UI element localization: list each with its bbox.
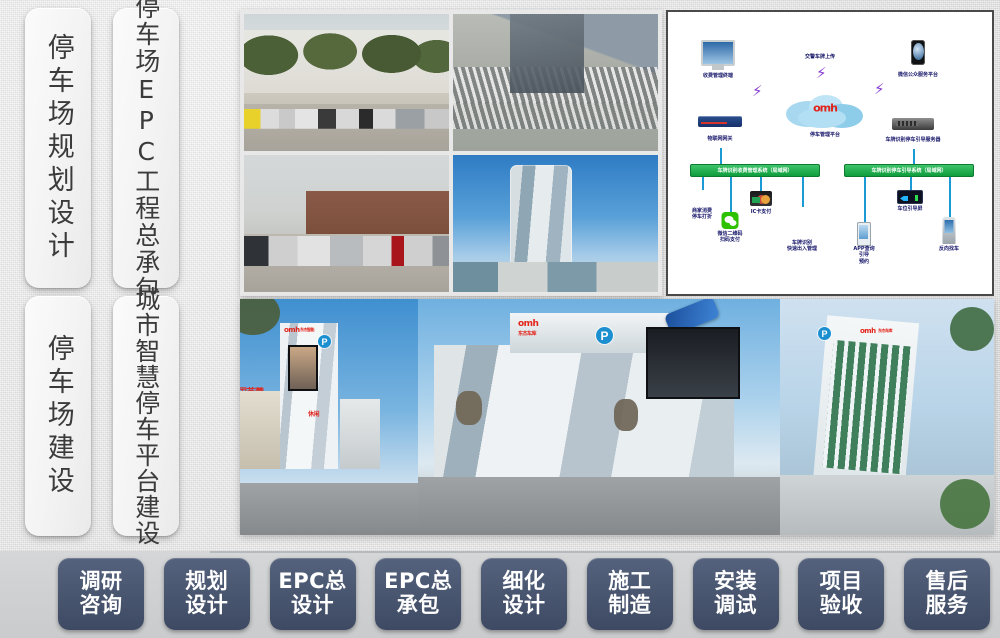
barrier-gate-icon (789, 207, 815, 237)
diagram-wire (910, 177, 912, 190)
process-step-after-sales[interactable]: 售后 服务 (904, 558, 990, 630)
diagram-wire (760, 177, 762, 191)
app-phone-icon (857, 222, 871, 246)
service-card-construction[interactable]: 停车场建设 (25, 296, 91, 536)
subsystem-bar-lpr-toll: 车牌识别收费管理系统（局域网） (690, 164, 820, 177)
process-step-epc-contract[interactable]: EPC总 承包 (375, 558, 461, 630)
billboard-screen (646, 327, 740, 399)
tree-icon (940, 479, 990, 529)
cloud-logo: omh (813, 102, 837, 115)
diagram-wire (702, 177, 704, 190)
ic-card-icon (750, 191, 772, 206)
parking-p-mark: P (818, 327, 831, 340)
side-building-left (240, 391, 280, 469)
street-ground (418, 477, 780, 535)
lightning-connector-icon: ⚡ (752, 84, 763, 99)
parking-p-mark: P (318, 335, 331, 348)
lightning-connector-icon: ⚡ (874, 82, 885, 97)
diagram-label-iot-gateway: 物联网网关 (707, 136, 732, 142)
diagram-wire (730, 177, 732, 212)
rendering-multi-level-garage: omh 东杰车库 P (418, 299, 780, 535)
diagram-label-app-query: APP查询 引导 预约 (853, 246, 874, 265)
process-band: 调研 咨询 规划 设计 EPC总 设计 EPC总 承包 细化 设计 施工 制造 … (0, 551, 1000, 638)
tree-icon (614, 399, 638, 431)
brand-sub-logo: 东杰车库 (518, 330, 536, 337)
diagram-label-lpr-entry-exit: 车牌识别 快速出入管理 (787, 240, 817, 253)
sign-text-leisure: 休闲 (308, 409, 319, 418)
server-icon (892, 118, 934, 130)
service-card-planning-design[interactable]: 停车场规划设计 (25, 8, 91, 288)
photo-glass-office-tower (453, 155, 658, 292)
process-step-research-consult[interactable]: 调研 咨询 (58, 558, 144, 630)
diagram-label-ic-card-pay: IC卡支付 (751, 209, 772, 215)
rendering-aerial-tower-garage: P omh 东杰车库 (780, 299, 994, 535)
renderings-strip: omh 东杰智能 P 国芙蓉 休闲 omh 东杰车库 P P omh 东杰车库 (240, 299, 994, 535)
parking-p-mark: P (596, 327, 613, 344)
smartphone-icon (911, 40, 925, 65)
service-card-label: 停车场建设 (44, 334, 72, 499)
diagram-label-space-guidance-screen: 车位引导屏 (897, 206, 922, 212)
service-card-label: 停车场规划设计 (44, 33, 72, 264)
police-officer-icon (811, 28, 829, 50)
service-card-smart-platform[interactable]: 城市智慧停车平台建设 (113, 296, 179, 536)
diagram-label-wechat-platform: 微信公众服务平台 (898, 72, 938, 78)
brand-logo: omh (860, 327, 876, 335)
photo-surface-lot-trees (244, 14, 449, 151)
system-architecture-diagram: 收费管理终端 交警车牌上传 微信公众服务平台 omh 停车管理平台 ⚡ ⚡ ⚡ … (666, 10, 994, 296)
rendering-tower-garage-street: omh 东杰智能 P 国芙蓉 休闲 (240, 299, 418, 535)
subsystem-bar-lpr-guidance: 车牌识别停车引导系统（局域网） (844, 164, 974, 177)
diagram-wire (949, 177, 951, 217)
kiosk-icon (943, 217, 956, 244)
green-facade-fins (823, 340, 912, 474)
photo-collage (240, 10, 662, 296)
brand-logo: omh (284, 326, 300, 334)
diagram-label-cloud-platform: 停车管理平台 (810, 132, 840, 138)
tree-icon (240, 299, 280, 335)
diagram-wire (802, 177, 804, 207)
process-step-detail-design[interactable]: 细化 设计 (481, 558, 567, 630)
lightning-connector-icon: ⚡ (816, 66, 827, 81)
photo-aerial-parking-lot (453, 14, 658, 151)
red-car-icon (689, 190, 715, 207)
process-step-epc-design[interactable]: EPC总 设计 (270, 558, 356, 630)
side-building-right (340, 399, 380, 469)
service-card-epc-contracting[interactable]: 停车场EPC工程总承包 (113, 8, 179, 288)
process-step-install-debug[interactable]: 安装 调试 (693, 558, 779, 630)
process-step-project-acceptance[interactable]: 项目 验收 (798, 558, 884, 630)
brand-sub-logo: 东杰智能 (300, 327, 314, 333)
diagram-label-reverse-car-finding: 反向找车 (939, 246, 959, 252)
billboard (288, 345, 318, 391)
street-ground (240, 483, 418, 535)
diagram-label-traffic-police: 交警车牌上传 (805, 54, 835, 60)
led-sign-icon (897, 190, 923, 204)
wechat-icon (722, 212, 739, 229)
diagram-label-guidance-server: 车牌识别停车引导服务器 (885, 137, 940, 143)
subsystem-label: 车牌识别收费管理系统（局域网） (717, 167, 792, 174)
process-step-planning-design[interactable]: 规划 设计 (164, 558, 250, 630)
diagram-label-wechat-qr-pay: 微信二维码 扫码支付 (717, 231, 742, 244)
cloud-icon: omh (786, 94, 864, 128)
router-icon (698, 116, 742, 127)
tree-icon (950, 307, 994, 351)
service-card-label: 城市智慧停车平台建设 (133, 286, 159, 546)
photo-brick-building-lot (244, 155, 449, 292)
brand-logo: omh (518, 319, 538, 329)
diagram-label-toll-terminal: 收费管理终端 (703, 73, 733, 79)
service-card-label: 停车场EPC工程总承包 (133, 0, 159, 303)
process-step-construction-manufacture[interactable]: 施工 制造 (587, 558, 673, 630)
process-step-bar: 调研 咨询 规划 设计 EPC总 设计 EPC总 承包 细化 设计 施工 制造 … (58, 558, 990, 630)
tree-icon (456, 391, 482, 425)
brand-sub-logo: 东杰车库 (878, 328, 892, 334)
diagram-label-merchant-discount: 商家消费 停车打折 (692, 208, 712, 221)
diagram-wire (864, 177, 866, 222)
monitor-icon (701, 40, 735, 66)
subsystem-label: 车牌识别停车引导系统（局域网） (871, 167, 946, 174)
